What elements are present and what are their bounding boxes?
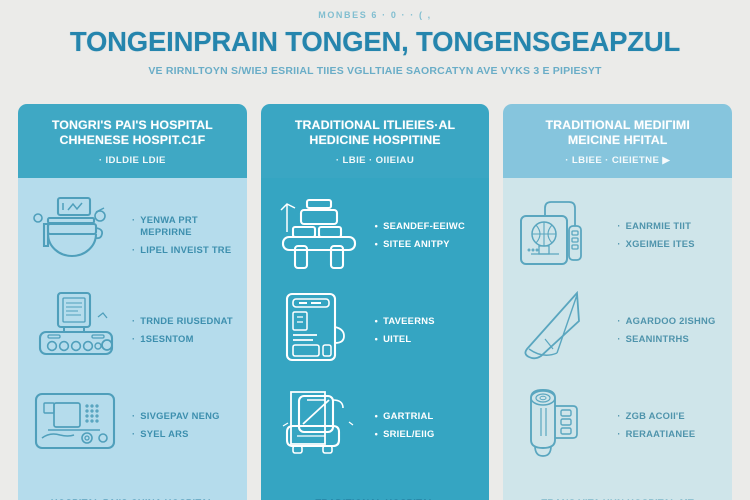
bullet-text: SITEE ANITPY <box>383 238 450 250</box>
page-title: TONGEINPRAIN TONGEN, TONGENSGEAPZUL <box>0 25 750 59</box>
list-item-bullet: · 1SESNTOM <box>132 333 237 345</box>
list-item-bullet: · ZGB ACOII'E <box>617 410 722 422</box>
bullet-dot: · <box>132 244 135 256</box>
list-item-bullet: · SYEL ARS <box>132 428 237 440</box>
bullet-text: TRNDE RIUSEDNAT <box>140 315 233 327</box>
mri-scanner-icon <box>28 193 124 275</box>
bullet-text: UITEL <box>383 333 411 345</box>
panel-subtitle: · IDLDIE LDIE <box>28 155 237 166</box>
medical-cart-icon <box>271 383 367 465</box>
list-item-bullet: · SEANINTRHS <box>617 333 722 345</box>
bullet-text: SIVGEPAV NENG <box>140 410 219 422</box>
panel-subtitle: · LBIE · OIIEIAU <box>271 155 480 166</box>
bullet-list: • GARTRIAL • SRIEL/EIIG <box>375 408 480 440</box>
list-item-bullet: · TRNDE RIUSEDNAT <box>132 315 237 327</box>
panel-header: TRADITIONAL ITLIEIES·AL HEDICINE HOSPITI… <box>261 104 490 178</box>
panel-body: • SEANDEF-EEIWC • SITEE ANITPY <box>261 178 490 500</box>
panel-body: · YENWA PRT MEPRIRNE · LIPEL INVEIST TRE <box>18 178 247 500</box>
list-item[interactable]: • GARTRIAL • SRIEL/EIIG <box>271 376 480 471</box>
list-item-bullet: • TAVEERNS <box>375 315 480 327</box>
control-console-icon <box>28 288 124 370</box>
bullet-dot: • <box>375 428 378 440</box>
bullet-text: TAVEERNS <box>383 315 435 327</box>
list-item-bullet: · LIPEL INVEIST TRE <box>132 244 237 256</box>
cylinder-sterilizer-icon <box>513 383 609 465</box>
list-item-bullet: • SITEE ANITPY <box>375 238 480 250</box>
list-item-bullet: • SRIEL/EIIG <box>375 428 480 440</box>
bullet-dot: • <box>375 315 378 327</box>
panel-title: TONGRI'S PAI'S HOSPITAL CHHENESE HOSPIT.… <box>28 118 237 148</box>
panel-title: TRADITIONAL ITLIEIES·AL HEDICINE HOSPITI… <box>271 118 480 148</box>
medicine-cabinet-icon <box>271 288 367 370</box>
bullet-text: YENWA PRT MEPRIRNE <box>140 214 236 238</box>
list-item[interactable]: · SIVGEPAV NENG · SYEL ARS <box>28 376 237 471</box>
header-eyebrow: MONBES 6 · 0 · · ( , <box>0 9 750 21</box>
panel-grid: TONGRI'S PAI'S HOSPITAL CHHENESE HOSPIT.… <box>18 104 732 500</box>
bullet-dot: • <box>375 220 378 232</box>
panel-body: · EANRMIE TIIT · XGEIMEE ITES <box>503 178 732 500</box>
list-item[interactable]: · AGARDOO 2ISHNG · SEANINTRHS <box>513 281 722 376</box>
list-item-bullet: · XGEIMEE ITES <box>617 238 722 250</box>
xray-panel-icon <box>513 193 609 275</box>
bullet-dot: · <box>617 315 620 327</box>
list-item[interactable]: • SEANDEF-EEIWC • SITEE ANITPY <box>271 186 480 281</box>
list-item[interactable]: · TRNDE RIUSEDNAT · 1SESNTOM <box>28 281 237 376</box>
bullet-dot: · <box>132 315 135 327</box>
bullet-dot: · <box>617 220 620 232</box>
list-item-bullet: • UITEL <box>375 333 480 345</box>
bullet-dot: · <box>132 214 135 226</box>
bullet-list: · ZGB ACOII'E · RERAATIANEE <box>617 408 722 440</box>
list-item[interactable]: · ZGB ACOII'E · RERAATIANEE <box>513 376 722 471</box>
bullet-dot: · <box>132 410 135 422</box>
bullet-list: · YENWA PRT MEPRIRNE · LIPEL INVEIST TRE <box>132 212 237 256</box>
bullet-text: RERAATIANEE <box>626 428 696 440</box>
panel-header: TONGRI'S PAI'S HOSPITAL CHHENESE HOSPIT.… <box>18 104 247 178</box>
bullet-text: GARTRIAL <box>383 410 433 422</box>
bullet-text: SYEL ARS <box>140 428 188 440</box>
list-item-bullet: · RERAATIANEE <box>617 428 722 440</box>
bullet-dot: · <box>617 238 620 250</box>
bullet-list: · TRNDE RIUSEDNAT · 1SESNTOM <box>132 313 237 345</box>
list-item-bullet: • GARTRIAL <box>375 410 480 422</box>
panel-header: TRADITIONAL MEDIГIMI MEICINE HFITAL · LB… <box>503 104 732 178</box>
bullet-list: · SIVGEPAV NENG · SYEL ARS <box>132 408 237 440</box>
bullet-text: SEANINTRHS <box>626 333 689 345</box>
bullet-dot: • <box>375 333 378 345</box>
list-item-bullet: · AGARDOO 2ISHNG <box>617 315 722 327</box>
panel-traditional-medicine[interactable]: TRADITIONAL ITLIEIES·AL HEDICINE HOSPITI… <box>261 104 490 500</box>
list-item-bullet: · SIVGEPAV NENG <box>132 410 237 422</box>
bullet-text: SEANDEF-EEIWC <box>383 220 465 232</box>
bullet-list: • SEANDEF-EEIWC • SITEE ANITPY <box>375 218 480 250</box>
bullet-dot: · <box>617 428 620 440</box>
bullet-dot: • <box>375 410 378 422</box>
monitor-workstation-icon <box>28 383 124 465</box>
page-subtitle: VE RIRNLTOYN S/WIEJ ESRIIAL TIIES VGLLTI… <box>0 64 750 78</box>
bullet-text: AGARDOO 2ISHNG <box>626 315 716 327</box>
list-item[interactable]: • TAVEERNS • UITEL <box>271 281 480 376</box>
bullet-text: 1SESNTOM <box>140 333 193 345</box>
bullet-list: · AGARDOO 2ISHNG · SEANINTRHS <box>617 313 722 345</box>
list-item-bullet: · EANRMIE TIIT <box>617 220 722 232</box>
list-item[interactable]: · EANRMIE TIIT · XGEIMEE ITES <box>513 186 722 281</box>
bullet-list: · EANRMIE TIIT · XGEIMEE ITES <box>617 218 722 250</box>
examination-bed-icon <box>271 193 367 275</box>
list-item-bullet: • SEANDEF-EEIWC <box>375 220 480 232</box>
bullet-dot: · <box>617 410 620 422</box>
bullet-text: ZGB ACOII'E <box>626 410 685 422</box>
list-item[interactable]: · YENWA PRT MEPRIRNE · LIPEL INVEIST TRE <box>28 186 237 281</box>
bullet-text: EANRMIE TIIT <box>626 220 692 232</box>
bullet-list: • TAVEERNS • UITEL <box>375 313 480 345</box>
bullet-dot: · <box>617 333 620 345</box>
list-item-bullet: · YENWA PRT MEPRIRNE <box>132 214 237 238</box>
bullet-text: LIPEL INVEIST TRE <box>140 244 231 256</box>
panel-hospital-chinese[interactable]: TONGRI'S PAI'S HOSPITAL CHHENESE HOSPIT.… <box>18 104 247 500</box>
bullet-text: SRIEL/EIIG <box>383 428 434 440</box>
panel-title: TRADITIONAL MEDIГIMI MEICINE HFITAL <box>513 118 722 148</box>
bullet-text: XGEIMEE ITES <box>626 238 695 250</box>
cone-funnel-icon <box>513 288 609 370</box>
panel-traditional-medicine-hfital[interactable]: TRADITIONAL MEDIГIMI MEICINE HFITAL · LB… <box>503 104 732 500</box>
bullet-dot: • <box>375 238 378 250</box>
bullet-dot: · <box>132 333 135 345</box>
page-header: MONBES 6 · 0 · · ( , TONGEINPRAIN TONGEN… <box>0 0 750 78</box>
panel-subtitle: · LBIEE · CIEIETNE ▶ <box>513 155 722 166</box>
bullet-dot: · <box>132 428 135 440</box>
